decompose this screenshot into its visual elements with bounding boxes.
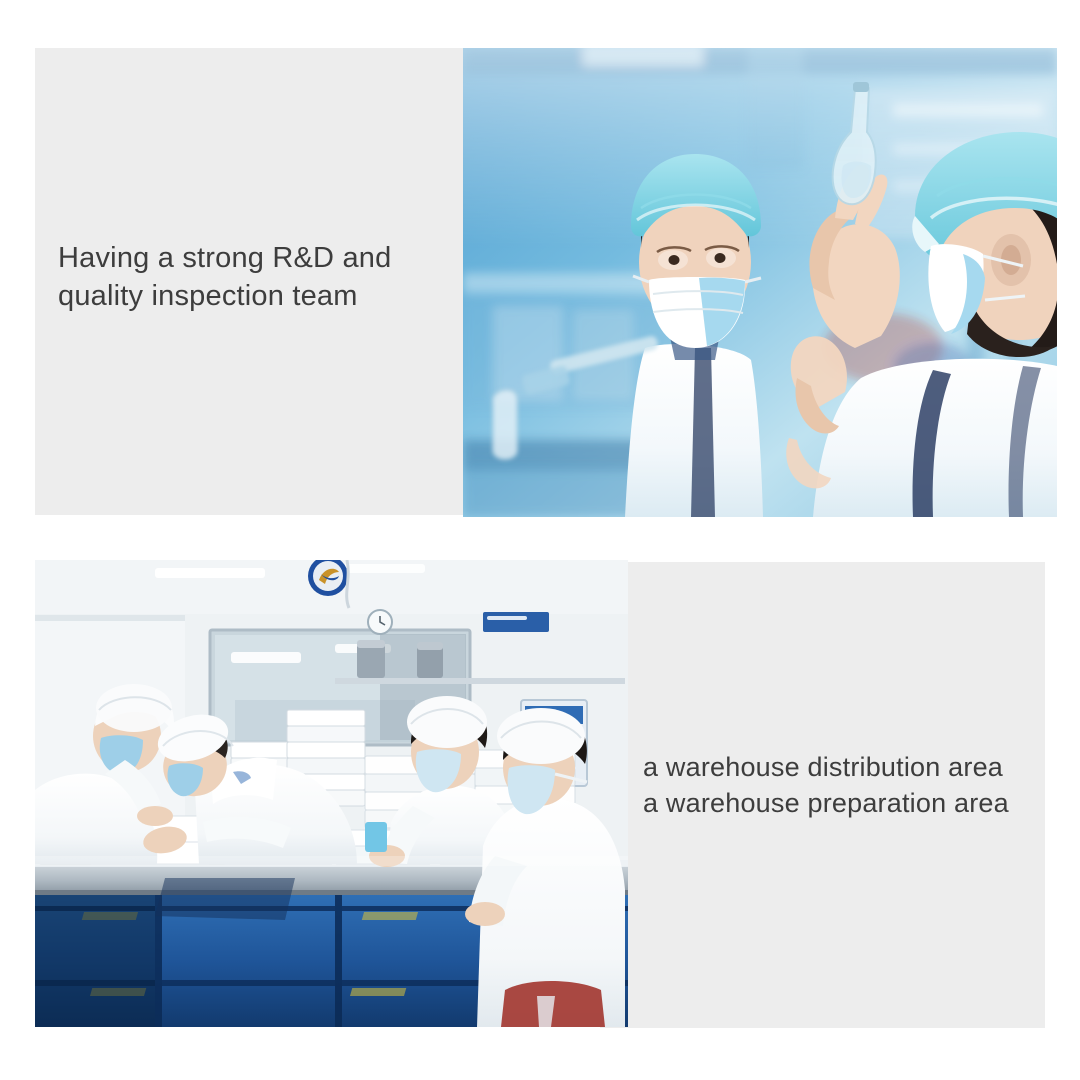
caption-warehouse: a warehouse distribution area a warehous… [643, 750, 1063, 822]
poster-root: Having a strong R&D and quality inspecti… [0, 0, 1080, 1080]
warehouse-packing-photo [35, 560, 628, 1027]
caption-rd-quality: Having a strong R&D and quality inspecti… [58, 240, 458, 315]
section-rd-quality: Having a strong R&D and quality inspecti… [0, 0, 1080, 520]
section-warehouse: a warehouse distribution area a warehous… [0, 520, 1080, 1080]
lab-technicians-photo [463, 48, 1057, 517]
